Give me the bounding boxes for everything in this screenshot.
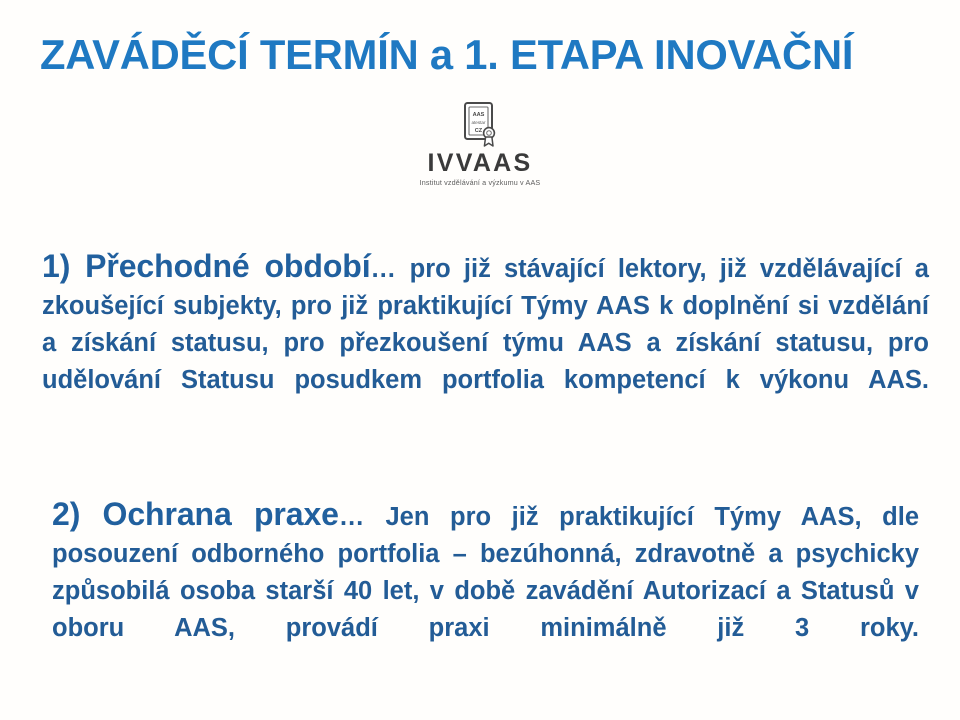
svg-text:atestar: atestar [471,120,486,125]
paragraph-1: 1) Přechodné období… pro již stávající l… [42,248,929,437]
paragraph-2-lead: 2) Ochrana praxe [52,496,339,532]
slide-canvas: ZAVÁDĚCÍ TERMÍN a 1. ETAPA INOVAČNÍ AAS … [0,0,960,720]
paragraph-1-lead: 1) Přechodné období [42,248,371,284]
svg-text:AAS: AAS [473,112,485,118]
svg-text:CZ: CZ [475,128,483,134]
logo-tagline: Institut vzdělávání a výzkumu v AAS [420,179,541,186]
paragraph-2: 2) Ochrana praxe… Jen pro již praktikují… [52,496,919,685]
page-title: ZAVÁDĚCÍ TERMÍN a 1. ETAPA INOVAČNÍ [40,33,955,77]
certificate-icon: AAS atestar CZ [454,100,506,150]
logo-wordmark: IVVAAS [427,151,532,176]
paragraph-2-ellipsis: … [339,503,365,531]
paragraph-1-ellipsis: … [371,255,397,283]
ivvaas-logo: AAS atestar CZ IVVAAS Institut vzděláván… [0,100,960,186]
